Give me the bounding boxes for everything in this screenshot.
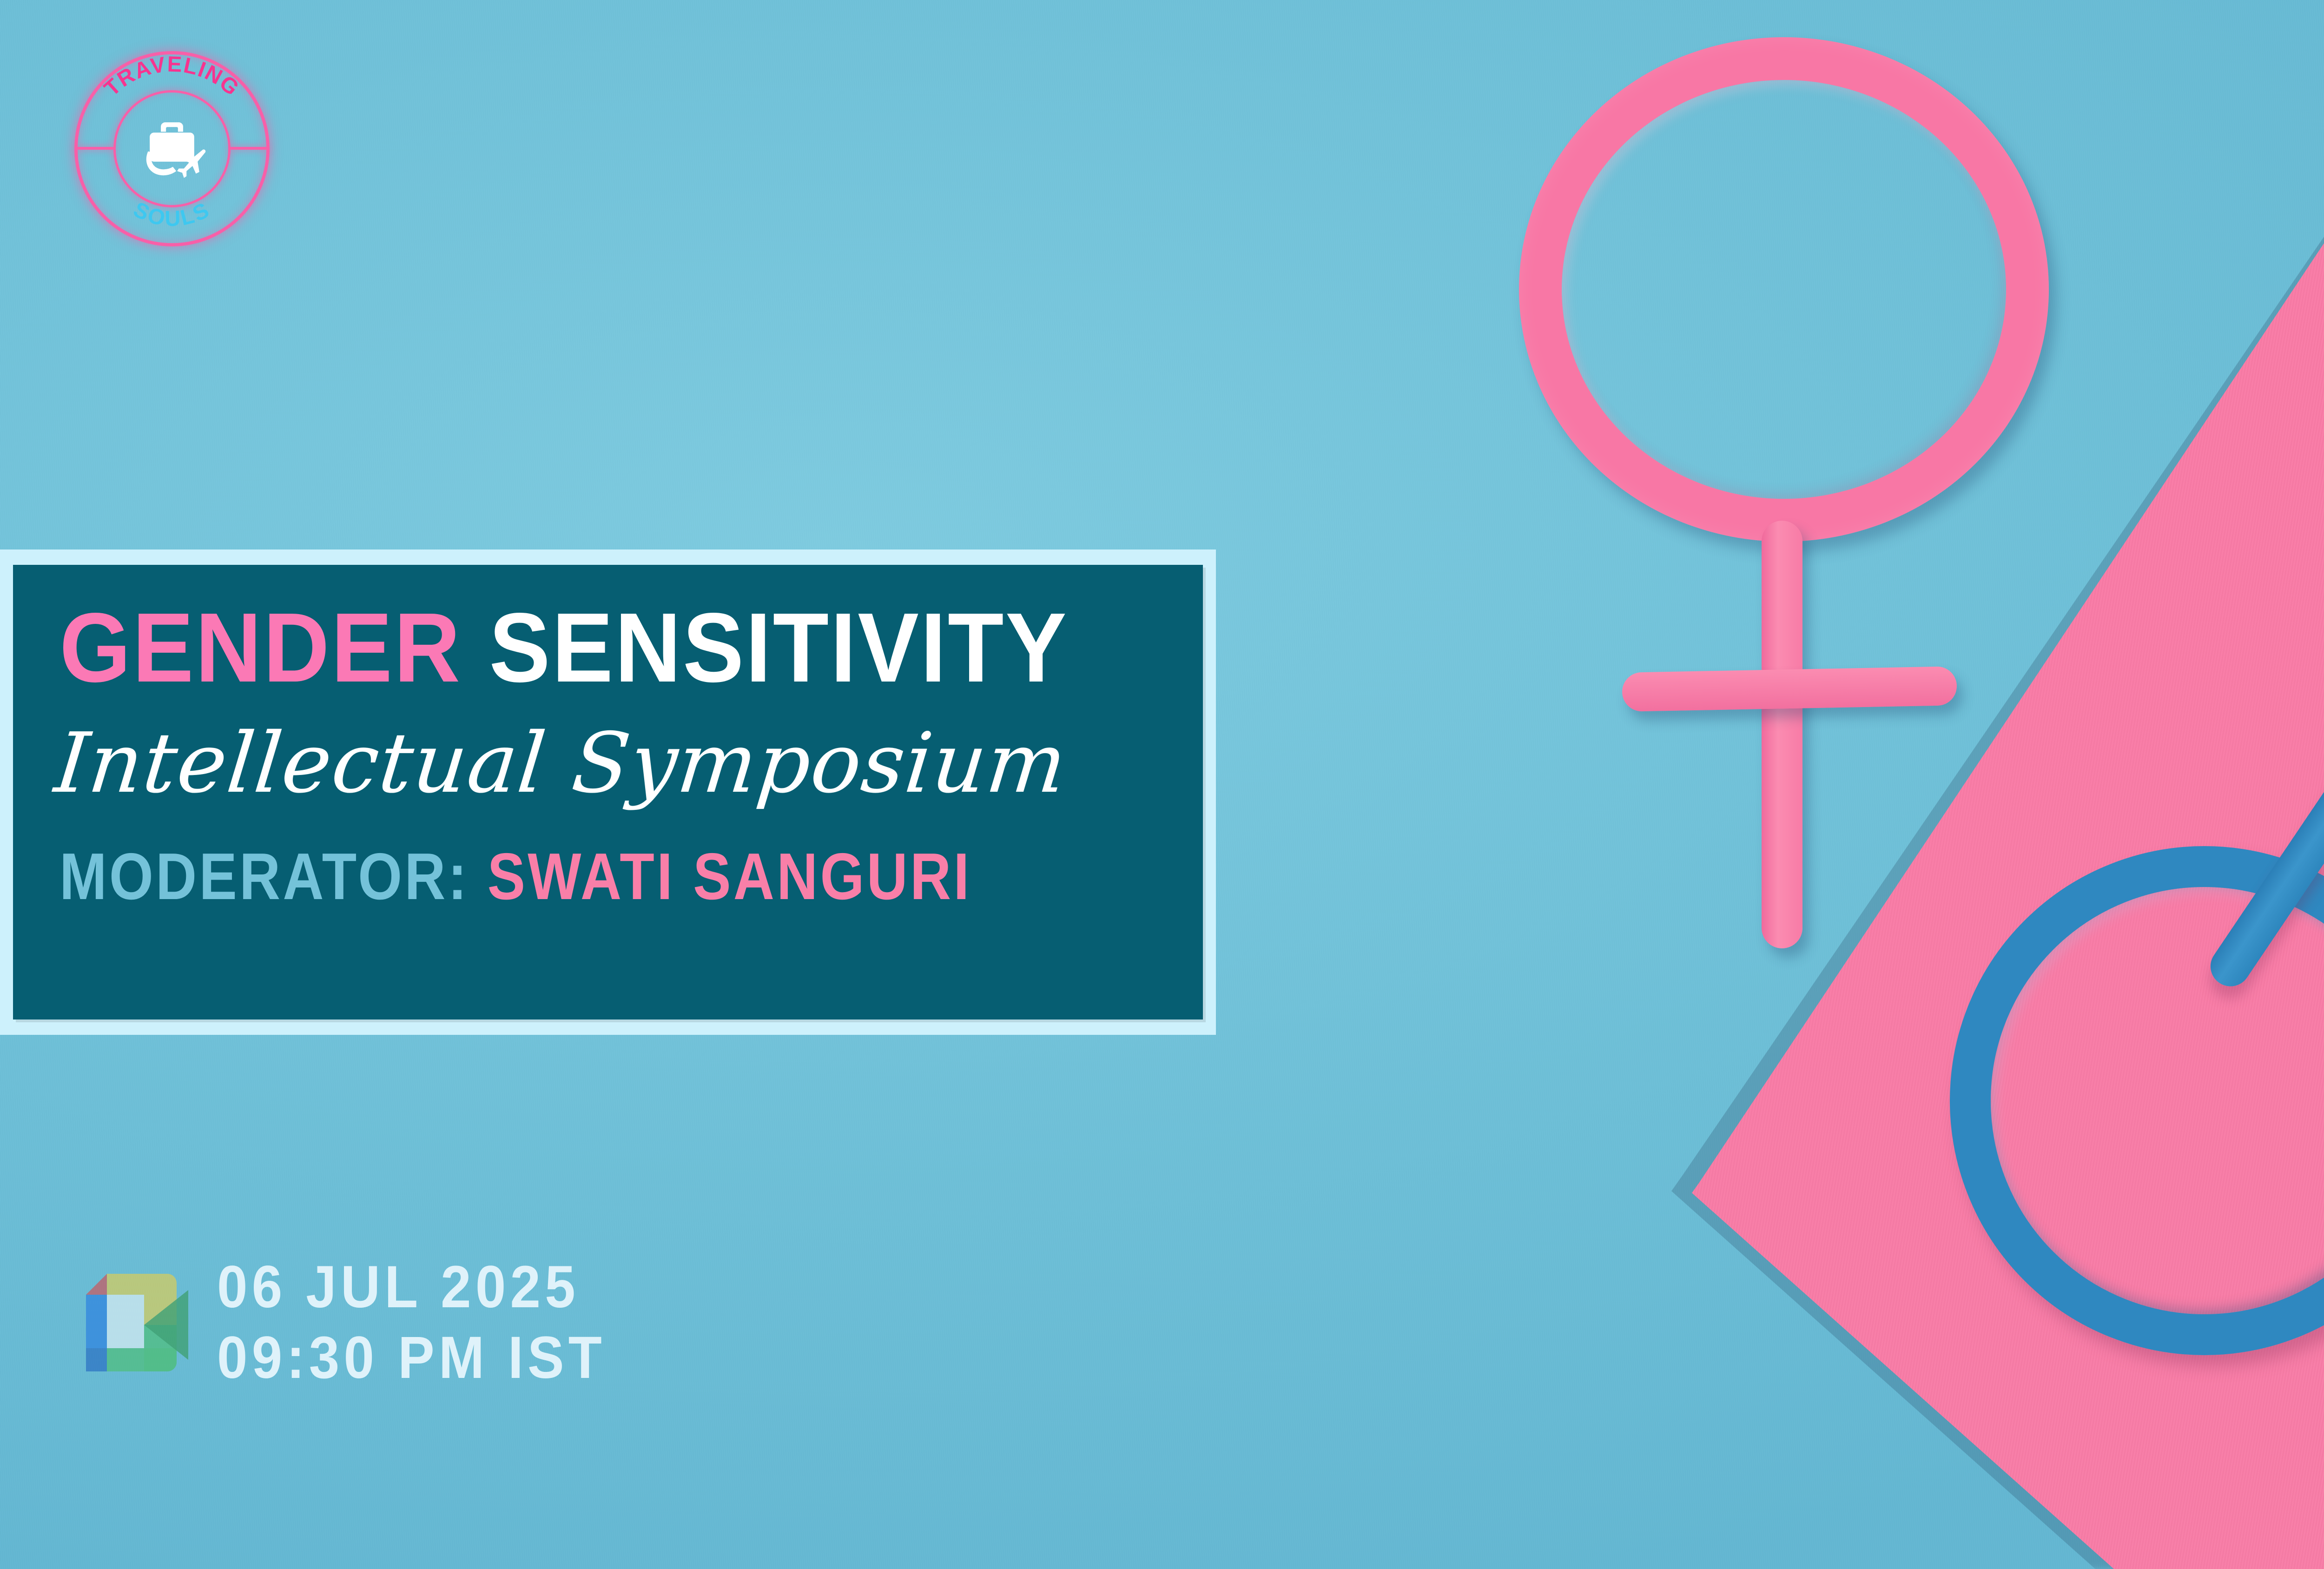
event-time: 09:30 PM IST [217, 1326, 606, 1390]
svg-text:SOULS: SOULS [130, 197, 214, 231]
event-schedule: 06 JUL 2025 09:30 PM IST [77, 1255, 640, 1390]
schedule-text: 06 JUL 2025 09:30 PM IST [217, 1255, 640, 1390]
page-title: GENDER SENSITIVITY [59, 598, 1068, 697]
moderator-line: MODERATOR: SWATI SANGURI [59, 844, 971, 910]
traveling-souls-logo[interactable]: TRAVELING SOULS [74, 51, 270, 246]
logo-bottom-label: SOULS [130, 197, 214, 231]
female-symbol-stem-icon [1762, 521, 1802, 948]
moderator-label: MODERATOR: [59, 840, 469, 914]
subtitle: Intellectual Symposium [52, 722, 1071, 805]
event-date: 06 JUL 2025 [217, 1255, 606, 1319]
headline-word-gender: GENDER [59, 592, 462, 702]
suitcase-airplane-icon [129, 107, 215, 192]
google-meet-icon [77, 1264, 193, 1381]
title-card-frame: GENDER SENSITIVITY Intellectual Symposiu… [0, 549, 1216, 1035]
headline-word-sensitivity: SENSITIVITY [489, 592, 1068, 702]
female-symbol-cross-icon [1622, 666, 1957, 712]
moderator-name: SWATI SANGURI [488, 840, 972, 914]
female-symbol-ring-icon [1519, 37, 2049, 542]
title-card: GENDER SENSITIVITY Intellectual Symposiu… [13, 565, 1203, 1020]
